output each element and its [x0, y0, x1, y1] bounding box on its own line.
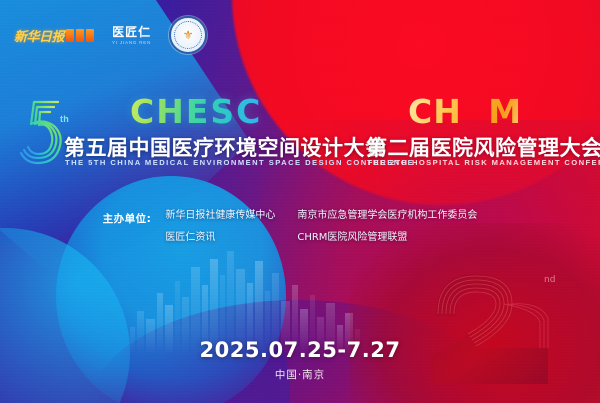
organizer-item: CHRM医院风险管理联盟: [297, 232, 497, 244]
organizers-section: 主办单位: 新华日报社健康传媒中心 医匠仁资讯 南京市应急管理学会医疗机构工作委…: [0, 210, 600, 244]
chrm-acronym-mirrored-r: R: [462, 92, 488, 131]
edition-number-five-graphic: [14, 94, 70, 170]
chesc-acronym: CHESC: [130, 92, 262, 131]
newspaper-masthead-icon: [66, 29, 74, 42]
event-location: 中国·南京: [0, 367, 600, 382]
organizers-column-one: 新华日报社健康传媒中心 医匠仁资讯: [165, 210, 297, 244]
sponsor-logo-bar: 新华日报 医匠仁 YI JIANG REN ⚜: [14, 16, 207, 54]
edition-suffix-th: th: [60, 114, 69, 124]
conference-poster: nd 新华日报 医匠仁 YI JIANG REN ⚜: [0, 0, 600, 403]
xinhua-daily-logo: 新华日报: [14, 24, 94, 47]
chesc-conference-block: th CHESC 第五届中国医疗环境空间设计大会 THE 5TH CHINA M…: [0, 92, 352, 187]
yijiangren-logo-en: YI JIANG REN: [112, 40, 151, 45]
organizers-label: 主办单位:: [103, 210, 152, 226]
newspaper-masthead-icon: [86, 29, 94, 42]
organizer-item: 医匠仁资讯: [165, 232, 297, 244]
chrm-conference-block: CHRM 第二届医院风险管理大会 THE 2TH HOSPITAL RISK M…: [352, 92, 600, 187]
circular-emblem-icon: ⚜: [174, 21, 202, 49]
chrm-acronym-part2: M: [488, 92, 522, 131]
newspaper-masthead-icon: [76, 29, 84, 42]
organizers-column-two: 南京市应急管理学会医疗机构工作委员会 CHRM医院风险管理联盟: [297, 210, 497, 244]
chrm-acronym: CHRM: [408, 92, 522, 131]
organizer-item: 南京市应急管理学会医疗机构工作委员会: [297, 210, 497, 222]
organizer-item: 新华日报社健康传媒中心: [165, 210, 297, 222]
yijiangren-logo-cn: 医匠仁: [112, 26, 151, 39]
xinhua-daily-logo-text: 新华日报: [14, 26, 64, 45]
svg-text:nd: nd: [544, 275, 555, 285]
chrm-english-title: THE 2TH HOSPITAL RISK MANAGEMENT CONFERE…: [367, 158, 600, 167]
conference-title-band: th CHESC 第五届中国医疗环境空间设计大会 THE 5TH CHINA M…: [0, 92, 600, 187]
yijiangren-logo: 医匠仁 YI JIANG REN: [112, 26, 151, 45]
event-date-section: 2025.07.25-7.27 中国·南京: [0, 338, 600, 382]
chrm-acronym-part1: CH: [408, 92, 462, 131]
emergency-association-badge: ⚜: [169, 16, 207, 54]
event-date: 2025.07.25-7.27: [0, 338, 600, 362]
